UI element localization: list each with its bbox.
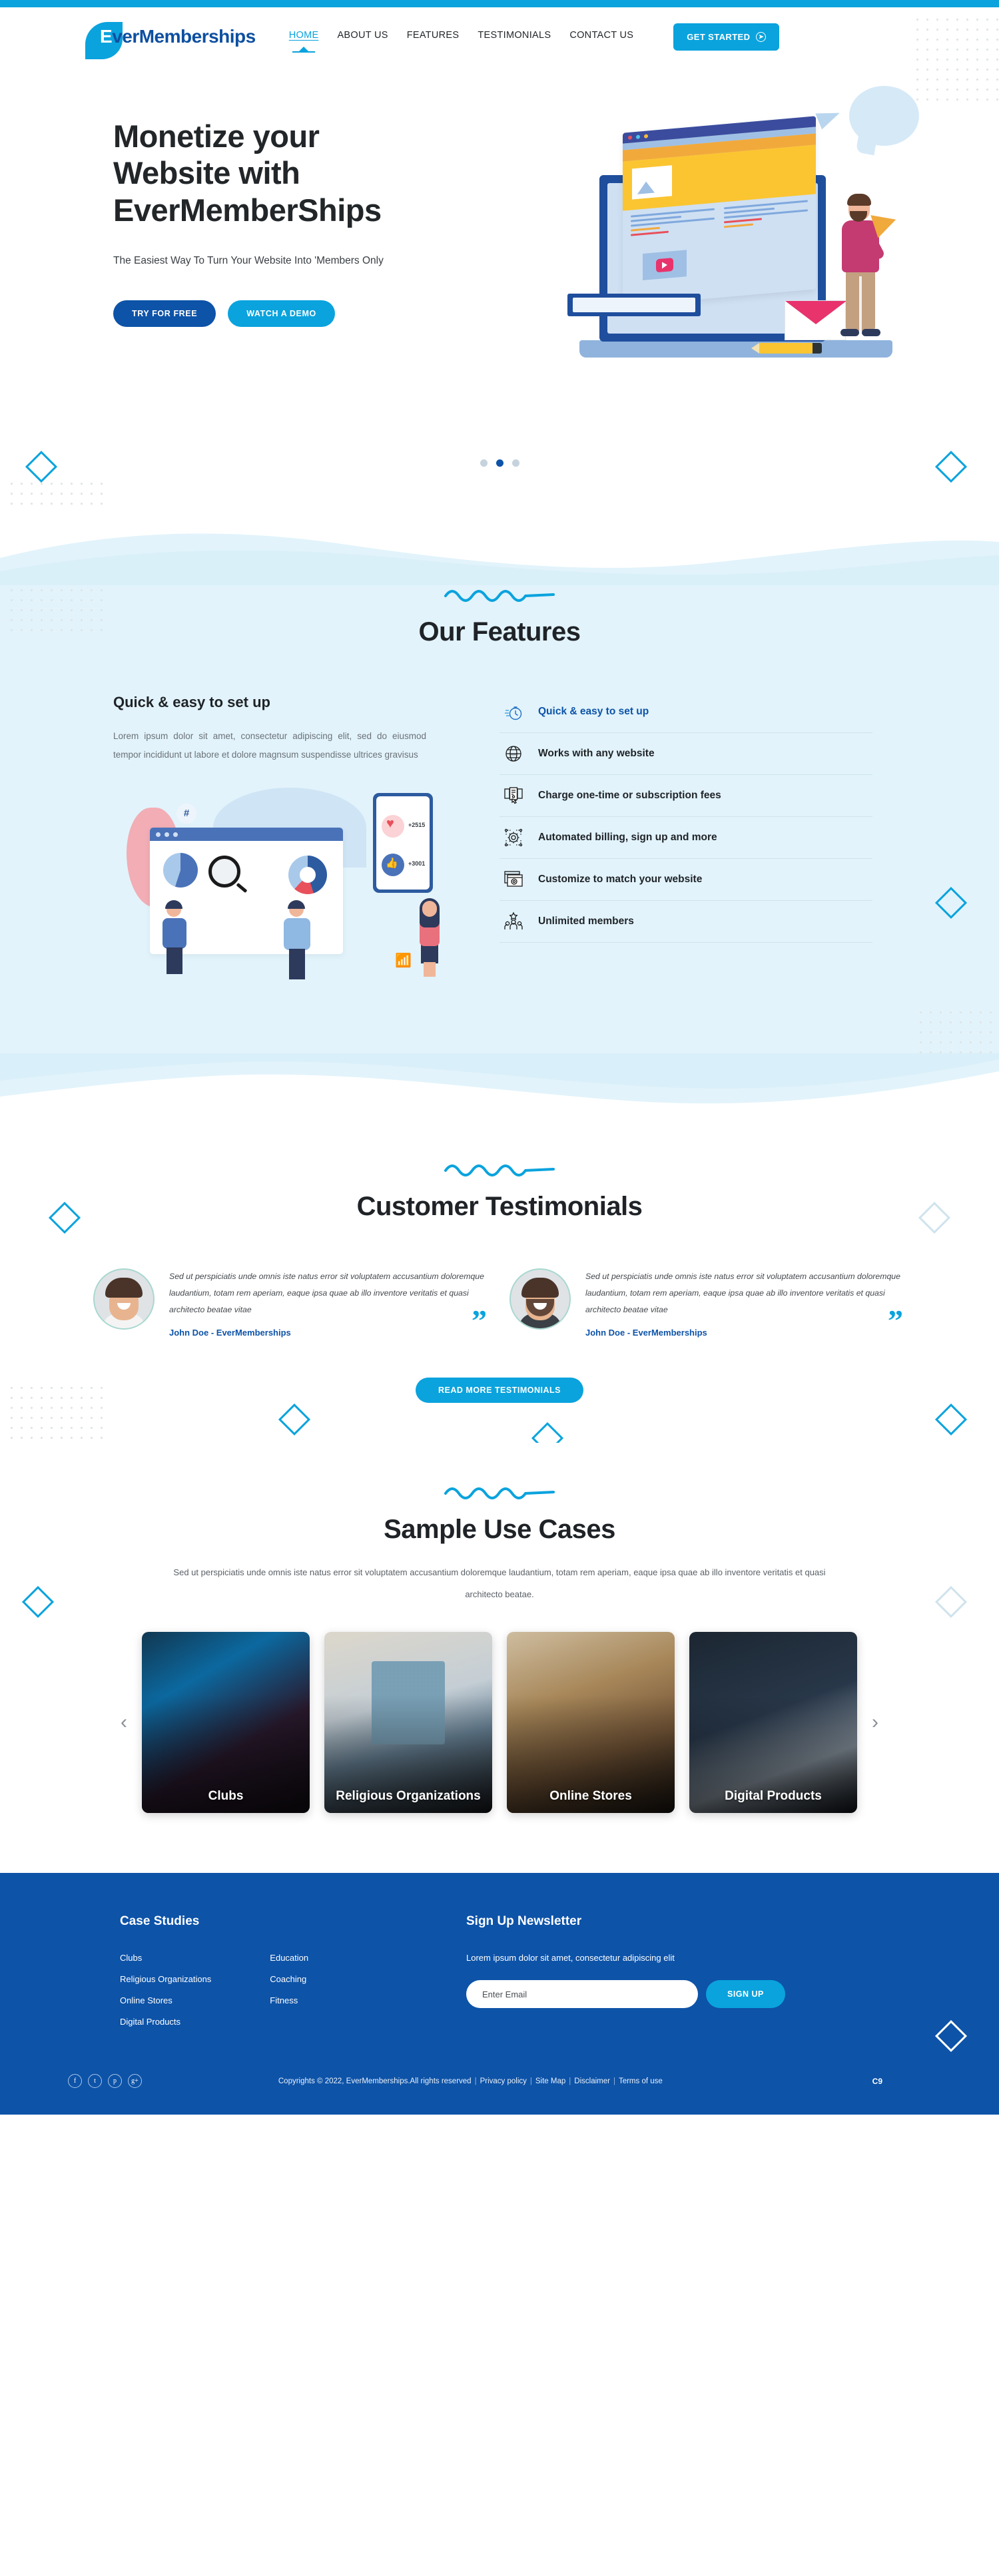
donut-chart-graphic xyxy=(288,856,327,894)
newsletter-description: Lorem ipsum dolor sit amet, consectetur … xyxy=(466,1953,899,1963)
testimonial-quote: Sed ut perspiciatis unde omnis iste natu… xyxy=(585,1268,906,1319)
phone-mock: +2515 +3001 xyxy=(373,793,433,893)
dot-pattern-top-right xyxy=(912,15,999,105)
feature-item-quick-easy[interactable]: Quick & easy to set up xyxy=(499,696,872,733)
landing-page: EverMemberships HOME ABOUT US FEATURES T… xyxy=(0,0,999,2115)
globe-www-icon: www xyxy=(502,742,525,765)
hashtag-icon: # xyxy=(176,804,196,824)
wave-divider-top xyxy=(0,505,999,585)
site-header: EverMemberships HOME ABOUT US FEATURES T… xyxy=(0,7,999,66)
dot-pattern-features-left xyxy=(7,585,107,639)
usecase-card-religious-organizations[interactable]: Religious Organizations xyxy=(324,1632,492,1813)
thumbs-count: +3001 xyxy=(408,860,425,867)
likes-count: +2515 xyxy=(408,822,425,828)
usecases-section: Sample Use Cases Sed ut perspiciatis und… xyxy=(0,1443,999,1873)
person-with-megaphone xyxy=(826,192,899,346)
hero-subtitle: The Easiest Way To Turn Your Website Int… xyxy=(113,255,499,267)
top-accent-strip xyxy=(0,0,999,7)
logo-text: EverMemberships xyxy=(100,27,256,46)
feature-item-charge-fees[interactable]: Charge one-time or subscription fees xyxy=(499,775,872,817)
quote-mark-icon: ” xyxy=(472,1312,487,1330)
email-field[interactable] xyxy=(466,1980,698,2008)
stopwatch-icon xyxy=(502,700,525,723)
testimonial-author: John Doe - EverMemberships xyxy=(169,1328,490,1338)
get-started-label: GET STARTED xyxy=(687,32,750,42)
diamond-decoration-tst-bottom-1 xyxy=(278,1404,310,1435)
footer-link-online-stores[interactable]: Online Stores xyxy=(120,1995,211,2005)
testimonial-card: Sed ut perspiciatis unde omnis iste natu… xyxy=(93,1262,490,1345)
carousel-prev-arrow[interactable]: ‹ xyxy=(121,1711,127,1734)
footer-links-column-2: Education Coaching Fitness xyxy=(270,1953,308,2038)
hero-copy: Monetize your Website with EverMemberShi… xyxy=(100,118,499,327)
newsletter-title: Sign Up Newsletter xyxy=(466,1914,899,1929)
logo-initial: E xyxy=(100,26,112,47)
copyright-bar: Copyrights © 2022, EverMemberships.All r… xyxy=(142,2077,872,2085)
squiggle-decoration-features xyxy=(443,585,556,603)
feature-label: Unlimited members xyxy=(538,915,634,927)
dot-pattern-tst-left xyxy=(7,1383,107,1443)
diamond-decoration-left xyxy=(25,451,57,483)
features-left-column: Quick & easy to set up Lorem ipsum dolor… xyxy=(100,694,499,981)
hero-buttons: TRY FOR FREE WATCH A DEMO xyxy=(113,300,499,327)
diamond-decoration-tst-bottom-3 xyxy=(935,1404,967,1435)
usecases-subtitle: Sed ut perspiciatis unde omnis iste natu… xyxy=(173,1562,826,1605)
try-for-free-button[interactable]: TRY FOR FREE xyxy=(113,300,216,327)
c9-badge: C9 xyxy=(872,2077,946,2086)
footer-links-column-1: Clubs Religious Organizations Online Sto… xyxy=(120,1953,211,2038)
feature-item-any-website[interactable]: www Works with any website xyxy=(499,733,872,775)
testimonial-quote: Sed ut perspiciatis unde omnis iste natu… xyxy=(169,1268,490,1319)
usecase-caption: Clubs xyxy=(142,1789,310,1804)
usecases-carousel: ‹ Clubs Religious Organizations Online S… xyxy=(87,1632,912,1813)
footer-case-studies-title: Case Studies xyxy=(120,1914,446,1929)
footer-link-digital-products[interactable]: Digital Products xyxy=(120,2017,211,2027)
wifi-icon: 📶 xyxy=(395,952,412,969)
carousel-dot-3[interactable] xyxy=(512,459,519,467)
diamond-decoration-right xyxy=(935,451,967,483)
nav-item-testimonials[interactable]: TESTIMONIALS xyxy=(478,30,551,43)
hero-section: Monetize your Website with EverMemberShi… xyxy=(0,66,999,505)
feature-label: Works with any website xyxy=(538,748,655,760)
site-map-link[interactable]: Site Map xyxy=(535,2077,565,2085)
footer-link-education[interactable]: Education xyxy=(270,1953,308,1963)
hero-title-line-3: EverMemberShips xyxy=(113,192,499,228)
features-paragraph: Lorem ipsum dolor sit amet, consectetur … xyxy=(113,727,426,765)
gear-play-icon xyxy=(502,826,525,849)
features-illustration: # +2515 +3001 📶 xyxy=(113,781,460,981)
facebook-icon[interactable]: f xyxy=(68,2074,82,2088)
hero-illustration xyxy=(553,79,926,372)
dot-pattern-hero-left xyxy=(7,479,107,505)
footer-link-religious-organizations[interactable]: Religious Organizations xyxy=(120,1974,211,1984)
footer-case-studies: Case Studies Clubs Religious Organizatio… xyxy=(100,1914,446,2038)
diamond-decoration-uc-left xyxy=(22,1586,54,1618)
get-started-button[interactable]: GET STARTED ➤ xyxy=(673,23,779,51)
diamond-decoration-features-right xyxy=(935,887,967,919)
feature-item-automated-billing[interactable]: Automated billing, sign up and more xyxy=(499,817,872,859)
members-star-icon xyxy=(502,910,525,933)
feature-item-customize[interactable]: Customize to match your website xyxy=(499,859,872,901)
copyright-text: Copyrights © 2022, EverMemberships.All r… xyxy=(278,2077,472,2085)
nav-item-about-us[interactable]: ABOUT US xyxy=(337,30,388,43)
usecase-card-digital-products[interactable]: Digital Products xyxy=(689,1632,857,1813)
footer-link-fitness[interactable]: Fitness xyxy=(270,1995,308,2005)
paper-plane-icon xyxy=(815,105,842,130)
features-heading: Quick & easy to set up xyxy=(113,694,499,711)
usecase-card-clubs[interactable]: Clubs xyxy=(142,1632,310,1813)
nav-item-home[interactable]: HOME xyxy=(289,30,319,43)
twitter-icon[interactable]: t xyxy=(88,2074,102,2088)
feature-label: Customize to match your website xyxy=(538,874,702,886)
nav-item-contact-us[interactable]: CONTACT US xyxy=(569,30,633,43)
quote-mark-icon: ” xyxy=(888,1312,903,1330)
feature-item-unlimited-members[interactable]: Unlimited members xyxy=(499,901,872,943)
squiggle-decoration-testimonials xyxy=(443,1160,556,1177)
social-links: f t p g+ xyxy=(53,2074,142,2088)
read-more-testimonials-button[interactable]: READ MORE TESTIMONIALS xyxy=(416,1378,583,1403)
pencil-icon xyxy=(759,343,813,354)
squiggle-decoration-usecases xyxy=(443,1483,556,1500)
privacy-policy-link[interactable]: Privacy policy xyxy=(480,2077,527,2085)
footer-bottom-bar: f t p g+ Copyrights © 2022, EverMembersh… xyxy=(0,2065,999,2115)
disclaimer-link[interactable]: Disclaimer xyxy=(574,2077,610,2085)
testimonial-card: Sed ut perspiciatis unde omnis iste natu… xyxy=(509,1262,906,1345)
site-logo[interactable]: EverMemberships xyxy=(100,27,256,46)
search-icon xyxy=(684,300,693,308)
features-title: Our Features xyxy=(0,617,999,647)
avatar xyxy=(509,1268,571,1330)
diamond-decoration-footer xyxy=(935,2020,967,2052)
feature-label: Quick & easy to set up xyxy=(538,706,649,718)
feature-label: Automated billing, sign up and more xyxy=(538,832,717,844)
footer-link-clubs[interactable]: Clubs xyxy=(120,1953,211,1963)
carousel-next-arrow[interactable]: › xyxy=(872,1711,878,1734)
thumbs-up-icon xyxy=(382,854,404,876)
logo-name: verMemberships xyxy=(112,26,256,47)
heart-icon xyxy=(382,815,404,838)
features-list: Quick & easy to set up www Works with an… xyxy=(499,694,872,981)
main-nav: HOME ABOUT US FEATURES TESTIMONIALS CONT… xyxy=(289,30,634,43)
svg-text:www: www xyxy=(509,753,517,757)
watch-a-demo-button[interactable]: WATCH A DEMO xyxy=(228,300,335,327)
terms-of-use-link[interactable]: Terms of use xyxy=(619,2077,663,2085)
browser-window-mock xyxy=(623,116,816,306)
usecase-caption: Digital Products xyxy=(689,1789,857,1804)
usecases-title: Sample Use Cases xyxy=(0,1515,999,1545)
avatar xyxy=(93,1268,155,1330)
magnifier-icon xyxy=(208,856,240,888)
diamond-decoration-tst-bottom-2 xyxy=(531,1422,563,1443)
speech-bubble-icon xyxy=(849,86,919,146)
usecase-caption: Religious Organizations xyxy=(324,1789,492,1804)
nav-item-features[interactable]: FEATURES xyxy=(407,30,460,43)
testimonials-section: Customer Testimonials Sed ut perspiciati… xyxy=(0,1140,999,1443)
arrow-right-icon: ➤ xyxy=(756,32,766,42)
search-bar-mock xyxy=(567,294,701,316)
feature-label: Charge one-time or subscription fees xyxy=(538,790,721,802)
usecase-card-online-stores[interactable]: Online Stores xyxy=(507,1632,675,1813)
hero-title-line-1: Monetize your xyxy=(113,118,499,154)
documents-click-icon xyxy=(502,784,525,807)
dot-pattern-features-right xyxy=(916,1007,999,1054)
testimonials-title: Customer Testimonials xyxy=(0,1192,999,1222)
carousel-dot-2[interactable] xyxy=(496,459,503,467)
hero-carousel-dots xyxy=(0,459,999,467)
features-section: Our Features Quick & easy to set up Lore… xyxy=(0,585,999,1054)
hero-title-line-2: Website with xyxy=(113,154,499,191)
browser-gear-icon xyxy=(502,868,525,891)
hero-title: Monetize your Website with EverMemberShi… xyxy=(113,118,499,228)
google-plus-icon[interactable]: g+ xyxy=(128,2074,142,2088)
pinterest-icon[interactable]: p xyxy=(108,2074,122,2088)
carousel-dot-1[interactable] xyxy=(480,459,488,467)
wave-divider-bottom xyxy=(0,1053,999,1140)
signup-button[interactable]: SIGN UP xyxy=(706,1980,785,2008)
usecase-caption: Online Stores xyxy=(507,1789,675,1804)
pie-chart-graphic xyxy=(163,853,198,888)
footer-link-coaching[interactable]: Coaching xyxy=(270,1974,308,1984)
diamond-decoration-uc-right xyxy=(935,1586,967,1618)
footer-newsletter: Sign Up Newsletter Lorem ipsum dolor sit… xyxy=(446,1914,899,2038)
testimonials-list: Sed ut perspiciatis unde omnis iste natu… xyxy=(93,1262,906,1345)
site-footer: Case Studies Clubs Religious Organizatio… xyxy=(0,1873,999,2115)
testimonial-author: John Doe - EverMemberships xyxy=(585,1328,906,1338)
